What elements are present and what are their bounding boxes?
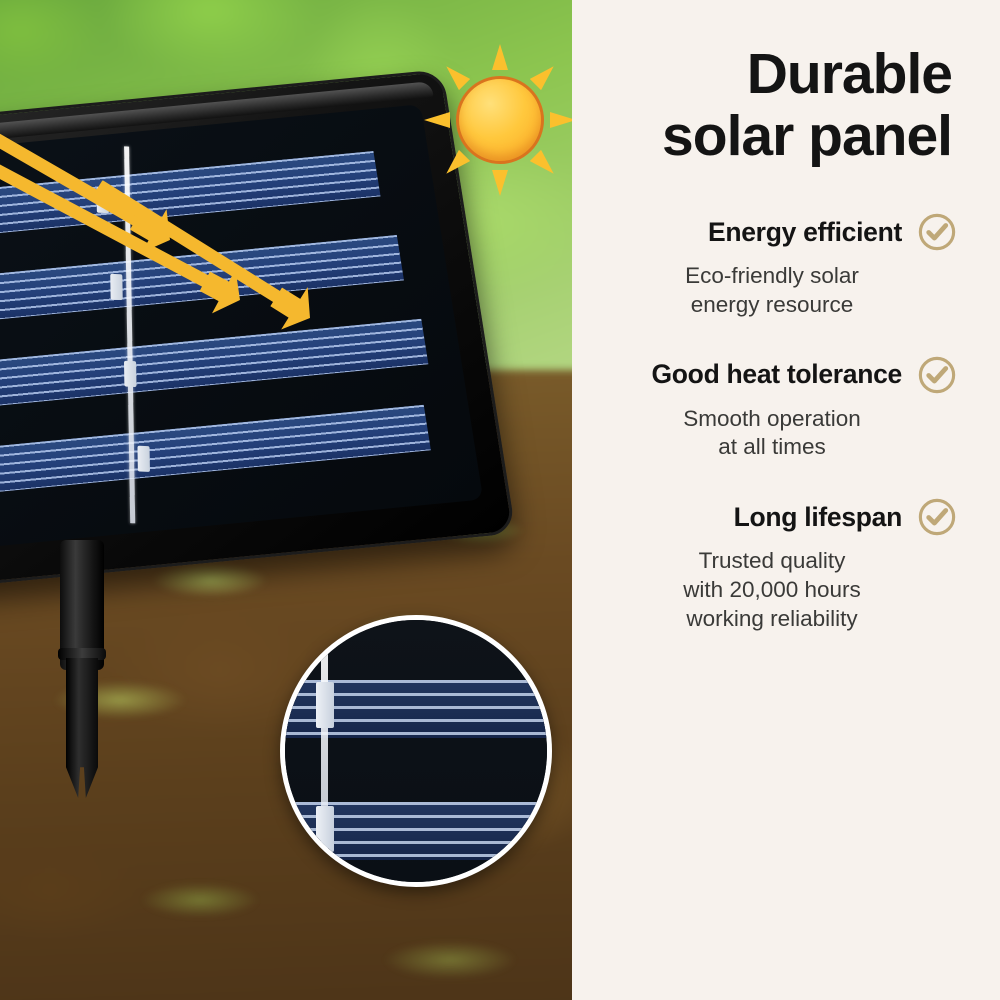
sun-core [456,76,544,164]
feature-energy-efficient: Energy efficient Eco-friendly solar ener… [582,211,974,320]
feature-title: Good heat tolerance [651,359,902,390]
feature-desc-line: working reliability [612,605,932,634]
check-circle-icon [916,354,958,396]
cell-tab [110,274,123,300]
feature-description: Trusted quality with 20,000 hours workin… [582,547,974,633]
headline-line-1: Durable [747,42,952,106]
feature-desc-line: energy resource [612,291,932,320]
feature-desc-line: Eco-friendly solar [612,262,932,291]
feature-good-heat-tolerance: Good heat tolerance Smooth operation at … [582,354,974,463]
info-panel: Durable solar panel Energy efficient Eco… [572,0,1000,1000]
feature-desc-line: Smooth operation [612,405,932,434]
feature-long-lifespan: Long lifespan Trusted quality with 20,00… [582,496,974,633]
feature-title: Long lifespan [734,502,902,533]
feature-desc-line: Trusted quality [612,547,932,576]
feature-header: Long lifespan [582,496,974,538]
sun-ray [492,170,508,196]
feature-desc-line: at all times [612,433,932,462]
solar-cell-closeup-circle [280,615,552,887]
feature-desc-line: with 20,000 hours [612,576,932,605]
solar-cell-row [0,319,429,410]
closeup-surface [285,620,547,882]
headline-line-2: solar panel [582,106,952,168]
feature-description: Smooth operation at all times [582,405,974,463]
check-circle-icon [916,496,958,538]
sun-ray [424,112,450,128]
solar-cell-row [0,405,431,492]
sun-ray [530,61,560,91]
feature-list: Energy efficient Eco-friendly solar ener… [582,211,974,634]
sun-icon [420,40,580,200]
sun-ray [492,44,508,70]
sun-ray [441,150,471,180]
panel-cell-face [0,104,483,551]
check-circle-icon [916,211,958,253]
cell-tab [124,361,137,387]
closeup-cell-tab [316,682,334,728]
sun-ray [530,150,560,180]
feature-header: Energy efficient [582,211,974,253]
sun-ray [441,61,471,91]
feature-header: Good heat tolerance [582,354,974,396]
closeup-cell-tab [316,806,334,852]
product-feature-graphic: Durable solar panel Energy efficient Eco… [0,0,1000,1000]
feature-title: Energy efficient [708,217,902,248]
feature-description: Eco-friendly solar energy resource [582,262,974,320]
cell-tab [137,446,150,472]
page-title: Durable solar panel [582,44,974,167]
